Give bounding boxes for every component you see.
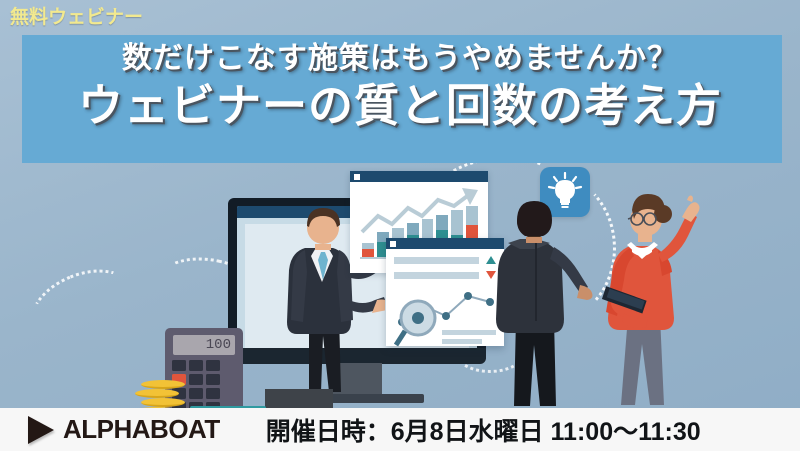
chart-bar-lower (362, 249, 374, 257)
title-block: 数だけこなす施策はもうやめませんか？ ウェビナーの質と回数の考え方 (0, 33, 800, 163)
chart-bar-upper (466, 206, 478, 224)
coin (135, 389, 179, 398)
calc-key (206, 388, 220, 399)
footer-bar-2 (442, 339, 482, 344)
chart-bar-upper (407, 223, 419, 235)
calc-key (189, 360, 203, 371)
woman-with-tablet (588, 188, 718, 408)
coin (141, 398, 185, 407)
list-item-label (394, 257, 479, 264)
calc-key (172, 360, 186, 371)
footer-bar: ALPHABOAT 開催日時：6月8日水曜日 11:00〜11:30 (0, 408, 800, 451)
card-titlebar (350, 171, 488, 182)
calc-key (206, 374, 220, 385)
illustration-stage: % (0, 163, 800, 408)
dotted-arc-percent-to-gear (19, 255, 147, 361)
free-webinar-label: 無料ウェビナー (10, 2, 143, 29)
calculator-display: 100 (173, 335, 235, 355)
play-triangle-icon (28, 416, 54, 444)
brand-name: ALPHABOAT (63, 414, 220, 445)
chart-bar-upper (436, 215, 448, 230)
event-datetime: 開催日時：6月8日水曜日 11:00〜11:30 (266, 412, 701, 448)
webinar-banner-image: 無料ウェビナー 数だけこなす施策はもうやめませんか？ ウェビナーの質と回数の考え… (0, 0, 800, 451)
calc-key (189, 388, 203, 399)
title-line-1: 数だけこなす施策はもうやめませんか？ (122, 44, 678, 74)
brand-logo: ALPHABOAT (28, 414, 220, 445)
list-item-label (394, 272, 479, 279)
calc-key (206, 360, 220, 371)
chart-bar-upper (451, 210, 463, 236)
card-dot-icon (390, 241, 396, 247)
card-dot-icon (354, 174, 360, 180)
standing-man (480, 195, 598, 408)
calc-key (189, 374, 203, 385)
chart-bar-group (362, 191, 374, 257)
title-line-2: ウェビナーの質と回数の考え方 (78, 83, 722, 128)
coin-stack (135, 380, 181, 408)
desk-object (265, 389, 333, 408)
coin (141, 380, 185, 389)
